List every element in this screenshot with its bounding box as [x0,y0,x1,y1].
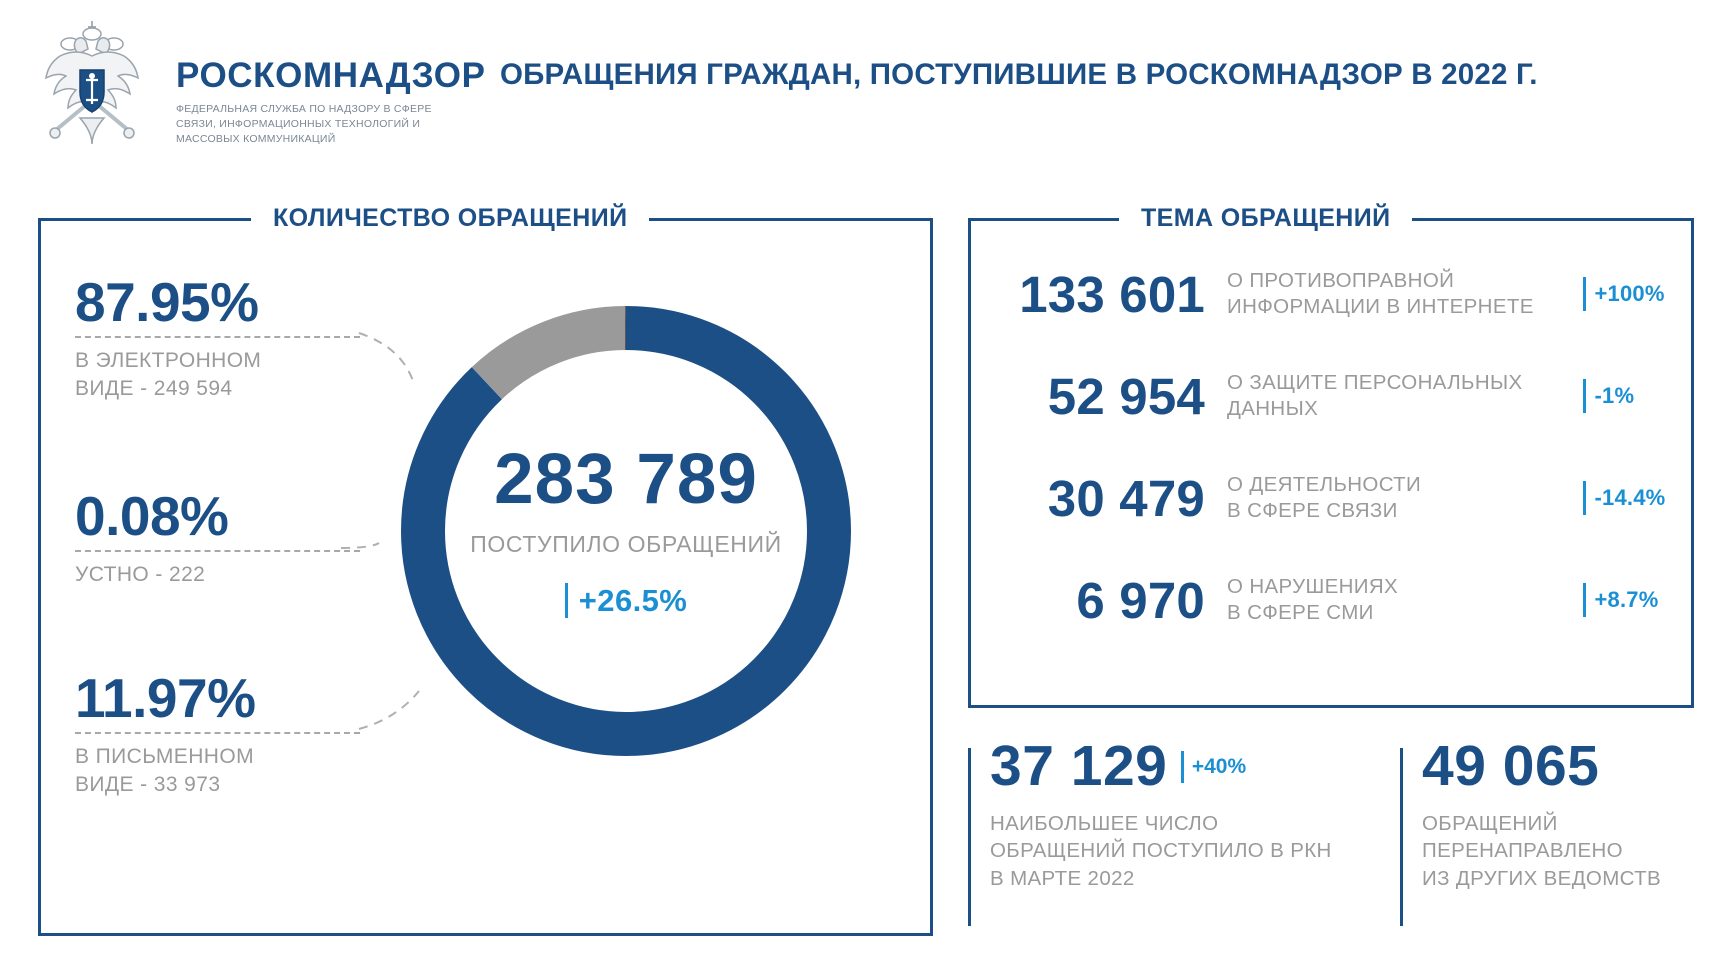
topic-count: 30 479 [993,469,1205,528]
topic-label-line1: О ЗАЩИТЕ ПЕРСОНАЛЬНЫХ [1227,370,1579,396]
legend-divider [75,550,360,552]
legend-label-line1: В ПИСЬМЕННОМ [75,743,405,771]
logo-block: РОСКОМНАДЗОР ФЕДЕРАЛЬНАЯ СЛУЖБА ПО НАДЗО… [22,14,486,154]
header: РОСКОМНАДЗОР ФЕДЕРАЛЬНАЯ СЛУЖБА ПО НАДЗО… [0,0,1732,168]
topic-label-line2: ДАННЫХ [1227,396,1579,422]
topic-label: О ПРОТИВОПРАВНОЙИНФОРМАЦИИ В ИНТЕРНЕТЕ [1205,268,1579,320]
topic-label: О ЗАЩИТЕ ПЕРСОНАЛЬНЫХДАННЫХ [1205,370,1579,422]
topic-delta-badge: +100% [1579,277,1697,311]
page-title: ОБРАЩЕНИЯ ГРАЖДАН, ПОСТУПИВШИЕ В РОСКОМН… [500,58,1538,92]
panel-quantity: КОЛИЧЕСТВО ОБРАЩЕНИЙ 87.95% В ЭЛЕКТРОННО… [38,218,933,936]
delta-bar [1181,751,1184,783]
legend-percent: 11.97% [75,671,405,726]
legend-label-line2: ВИДЕ - 33 973 [75,771,405,799]
stat-desc-line3: ИЗ ДРУГИХ ВЕДОМСТВ [1422,865,1700,892]
legend-item-oral: 0.08% УСТНО - 222 [75,489,405,589]
topic-count: 52 954 [993,367,1205,426]
donut-segment [423,328,829,734]
stat-accent-rule [1400,748,1403,926]
topic-count: 6 970 [993,571,1205,630]
legend-label-line1: В ЭЛЕКТРОННОМ [75,347,405,375]
delta-value: +8.7% [1595,587,1659,613]
stat-number: 37 129 [990,738,1167,795]
stat-description: НАИБОЛЬШЕЕ ЧИСЛО ОБРАЩЕНИЙ ПОСТУПИЛО В Р… [990,810,1368,892]
delta-bar [1583,481,1586,515]
legend-label: УСТНО - 222 [75,561,405,589]
brand-subtitle: ФЕДЕРАЛЬНАЯ СЛУЖБА ПО НАДЗОРУ В СФЕРЕ СВ… [176,102,446,147]
legend-label-line1: УСТНО - 222 [75,561,405,589]
legend-divider [75,732,360,734]
topic-delta-badge: -1% [1579,379,1697,413]
topic-label-line2: ИНФОРМАЦИИ В ИНТЕРНЕТЕ [1227,294,1579,320]
stat-accent-rule [968,748,971,926]
stat-desc-line1: ОБРАЩЕНИЙ [1422,810,1700,837]
logo-text: РОСКОМНАДЗОР ФЕДЕРАЛЬНАЯ СЛУЖБА ПО НАДЗО… [176,14,486,147]
topic-delta-badge: -14.4% [1579,481,1697,515]
stat-number: 49 065 [1422,738,1599,795]
topic-label-line1: О ДЕЯТЕЛЬНОСТИ [1227,472,1579,498]
panel-topics: ТЕМА ОБРАЩЕНИЙ 133 601О ПРОТИВОПРАВНОЙИН… [968,218,1694,708]
topic-row: 30 479О ДЕЯТЕЛЬНОСТИВ СФЕРЕ СВЯЗИ-14.4% [971,447,1697,549]
delta-bar [1583,277,1586,311]
topic-row: 6 970О НАРУШЕНИЯХВ СФЕРЕ СМИ+8.7% [971,549,1697,651]
donut-chart-svg [366,271,886,791]
topic-label-line2: В СФЕРЕ СМИ [1227,600,1579,626]
topic-label: О НАРУШЕНИЯХВ СФЕРЕ СМИ [1205,574,1579,626]
topic-label-line2: В СФЕРЕ СВЯЗИ [1227,498,1579,524]
stat-description: ОБРАЩЕНИЙ ПЕРЕНАПРАВЛЕНО ИЗ ДРУГИХ ВЕДОМ… [1422,810,1700,892]
topic-label-line1: О ПРОТИВОПРАВНОЙ [1227,268,1579,294]
legend-percent: 0.08% [75,489,405,544]
legend-percent: 87.95% [75,275,405,330]
topic-label: О ДЕЯТЕЛЬНОСТИВ СФЕРЕ СВЯЗИ [1205,472,1579,524]
topic-delta-badge: +8.7% [1579,583,1697,617]
topic-row: 52 954О ЗАЩИТЕ ПЕРСОНАЛЬНЫХДАННЫХ-1% [971,345,1697,447]
donut-chart: 283 789 ПОСТУПИЛО ОБРАЩЕНИЙ +26.5% [366,271,886,791]
stat-desc-line3: В МАРТЕ 2022 [990,865,1368,892]
stat-box-march: 37 129 +40% НАИБОЛЬШЕЕ ЧИСЛО ОБРАЩЕНИЙ П… [968,738,1368,936]
legend-label-line2: ВИДЕ - 249 594 [75,375,405,403]
delta-value: +100% [1595,281,1665,307]
panel-quantity-title: КОЛИЧЕСТВО ОБРАЩЕНИЙ [251,204,649,233]
delta-bar [1583,379,1586,413]
panel-topics-title: ТЕМА ОБРАЩЕНИЙ [1119,204,1412,233]
delta-value: +40% [1192,755,1246,779]
legend-label: В ПИСЬМЕННОМ ВИДЕ - 33 973 [75,743,405,798]
topic-list: 133 601О ПРОТИВОПРАВНОЙИНФОРМАЦИИ В ИНТЕ… [971,243,1697,651]
topic-label-line1: О НАРУШЕНИЯХ [1227,574,1579,600]
delta-bar [1583,583,1586,617]
double-headed-eagle-emblem-icon [22,14,162,154]
brand-name: РОСКОМНАДЗОР [176,58,486,93]
delta-value: -14.4% [1595,485,1666,511]
stat-desc-line2: ОБРАЩЕНИЙ ПОСТУПИЛО В РКН [990,837,1368,864]
stat-box-redirected: 49 065 ОБРАЩЕНИЙ ПЕРЕНАПРАВЛЕНО ИЗ ДРУГИ… [1400,738,1700,936]
legend-item-electronic: 87.95% В ЭЛЕКТРОННОМ ВИДЕ - 249 594 [75,275,405,402]
legend-item-written: 11.97% В ПИСЬМЕННОМ ВИДЕ - 33 973 [75,671,405,798]
topic-row: 133 601О ПРОТИВОПРАВНОЙИНФОРМАЦИИ В ИНТЕ… [971,243,1697,345]
legend-label: В ЭЛЕКТРОННОМ ВИДЕ - 249 594 [75,347,405,402]
stat-desc-line1: НАИБОЛЬШЕЕ ЧИСЛО [990,810,1368,837]
topic-count: 133 601 [993,265,1205,324]
stat-desc-line2: ПЕРЕНАПРАВЛЕНО [1422,837,1700,864]
legend-divider [75,336,360,338]
stat-delta-badge: +40% [1181,751,1246,783]
delta-value: -1% [1595,383,1635,409]
